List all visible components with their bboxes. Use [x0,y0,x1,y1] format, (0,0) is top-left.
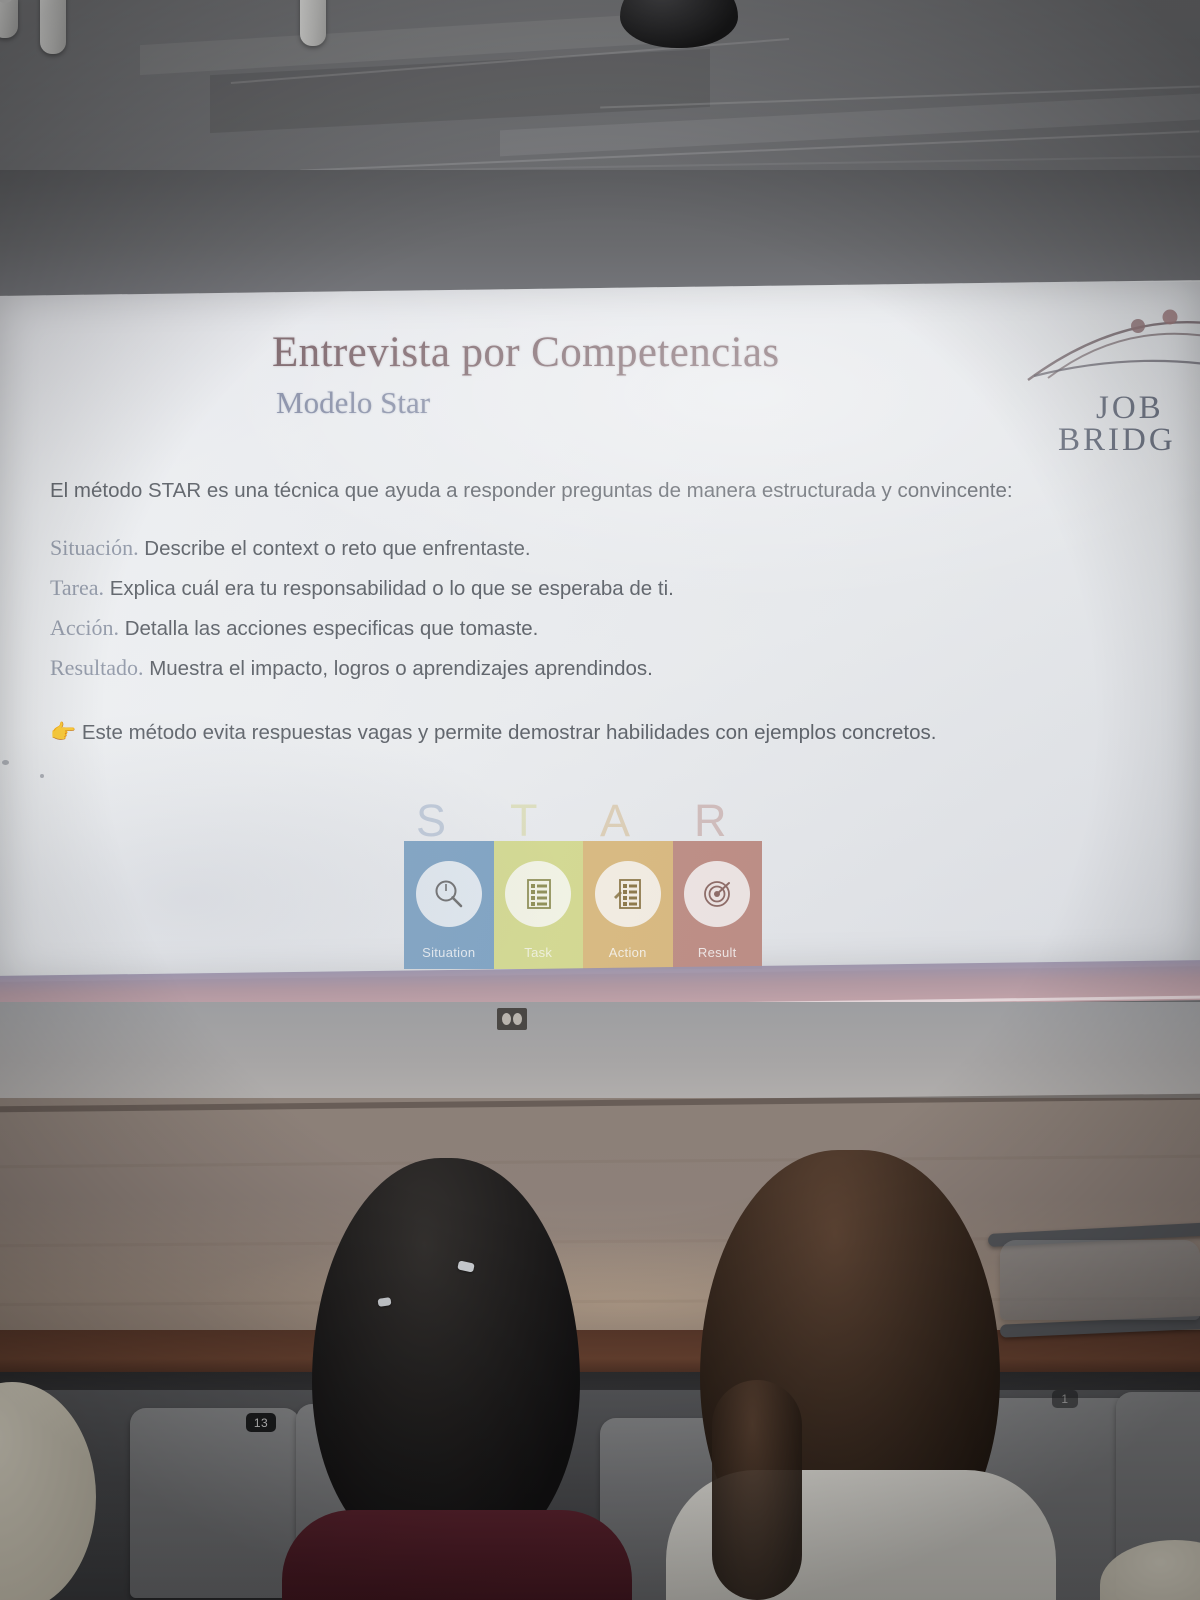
pointing-hand-icon: 👉 [50,721,76,744]
screen-speck [2,760,9,765]
star-tiles: Situation [404,841,762,969]
job-bridge-logo: JOB BRIDG [1020,294,1200,454]
star-step-key: Tarea. [50,575,104,600]
stage-riser [0,1330,1200,1378]
checklist-pen-icon [595,861,661,927]
star-diagram: S T A R Situation [398,799,762,969]
star-letter-a: A [600,795,630,847]
star-tile-situation: Situation [404,841,494,969]
logo-text-bridge: BRIDG [1058,422,1176,459]
star-step-text: Muestra el impacto, logros o aprendizaje… [144,657,653,680]
slide-note-text: Este método evita respuestas vagas y per… [82,721,937,744]
audience-person-left-shoulders [282,1510,632,1600]
star-tile-label: Action [583,945,673,960]
star-tile-task: Task [494,841,584,969]
star-step-key: Situación. [50,535,139,560]
audience-person-right-hair-strand [712,1380,802,1600]
chair-back[interactable] [130,1408,300,1598]
bridge-arch-icon [1020,294,1200,394]
checklist-icon [505,861,571,927]
slide-intro: El método STAR es una técnica que ayuda … [50,475,1040,506]
star-step-key: Acción. [50,615,119,640]
star-tile-action: Action [583,841,673,969]
lower-wall [0,1002,1200,1110]
star-step-text: Describe el context o reto que enfrentas… [139,537,531,560]
star-step-tarea: Tarea. Explica cuál era tu responsabilid… [50,568,1040,608]
target-icon [684,861,750,927]
star-letters: S T A R [398,799,762,845]
pendant-light-3 [0,0,18,38]
star-tile-label: Situation [404,945,494,960]
chair-back[interactable] [1000,1240,1200,1320]
star-tile-result: Result [673,841,763,969]
pendant-light-1 [40,0,66,54]
slide-body: El método STAR es una técnica que ayuda … [50,475,1040,769]
star-step-situacion: Situación. Describe el context o reto qu… [50,528,1040,568]
seat-number-badge: 1 [1052,1390,1078,1408]
star-step-key: Resultado. [50,655,144,680]
star-step-accion: Acción. Detalla las acciones especificas… [50,608,1040,648]
seat-number-badge: 13 [246,1413,276,1432]
star-tile-label: Result [673,945,763,960]
screen-speck [40,774,44,778]
slide-title: Entrevista por Competencias [272,328,972,377]
star-letter-r: R [694,795,727,847]
slide-note: 👉 Este método evita respuestas vagas y p… [50,717,1040,748]
star-tile-label: Task [494,945,584,960]
ceiling [0,0,1200,176]
projection-screen: Entrevista por Competencias Modelo Star … [0,280,1200,982]
pendant-light-2 [300,0,326,46]
star-step-text: Detalla las acciones especificas que tom… [119,617,538,640]
slide-subtitle: Modelo Star [276,385,430,421]
presentation-clicker-icon [497,1008,527,1030]
magnifier-icon [416,861,482,927]
upper-wall [0,170,1200,295]
star-letter-t: T [510,795,538,847]
auditorium-photo: Entrevista por Competencias Modelo Star … [0,0,1200,1600]
star-step-text: Explica cuál era tu responsabilidad o lo… [104,577,674,600]
star-step-resultado: Resultado. Muestra el impacto, logros o … [50,648,1040,688]
star-letter-s: S [416,795,446,847]
